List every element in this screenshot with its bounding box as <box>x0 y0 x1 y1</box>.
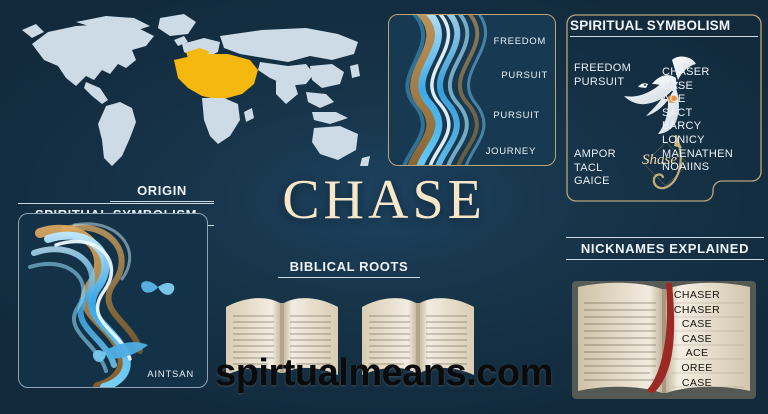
wave-card-top: FREEDOM PURSUIT PURSUIT JOURNEY <box>388 14 556 166</box>
symbolism-right-item: SACT <box>662 107 733 121</box>
symbolism-left-item: AMPOR <box>574 148 616 162</box>
nicknames-explained-label: NICKNAMES EXPLAINED <box>566 237 764 260</box>
infographic-canvas: .lnd { fill:#ccdbe6; } .hl { fill:#f5b80… <box>0 0 768 414</box>
symbolism-right-list: CHASER CASE ACE SACT BARCY LONICY MAENAT… <box>662 66 733 175</box>
nickname-item: CASE <box>660 317 734 332</box>
site-watermark: spirtualmeans.com <box>0 352 768 395</box>
symbolism-right-item: CHASER <box>662 66 733 80</box>
symbolism-left-item: FREEDOM <box>574 62 631 76</box>
wave-label-pursuit-1: PURSUIT <box>501 70 548 81</box>
nickname-item: CHASER <box>660 303 734 318</box>
symbolism-left-top-list: FREEDOM PURSUIT <box>574 62 631 89</box>
wave-label-pursuit-2: PURSUIT <box>493 110 540 121</box>
nickname-item: CASE <box>660 332 734 347</box>
symbolism-right-item: CASE <box>662 80 733 94</box>
spiritual-symbolism-title: SPIRITUAL SYMBOLISM <box>570 18 758 37</box>
biblical-roots-label: BIBLICAL ROOTS <box>278 258 420 278</box>
world-map-image: .lnd { fill:#ccdbe6; } .hl { fill:#f5b80… <box>14 8 372 178</box>
symbolism-right-item: BARCY <box>662 120 733 134</box>
symbolism-left-item: PURSUIT <box>574 76 631 90</box>
symbolism-right-item: MAENATHEN <box>662 148 733 162</box>
wave-label-freedom: FREEDOM <box>494 36 546 47</box>
wave-label-journey: JOURNEY <box>486 146 536 157</box>
symbolism-right-item: LONICY <box>662 134 733 148</box>
symbolism-right-item: ACE <box>662 93 733 107</box>
nickname-item: CHASER <box>660 288 734 303</box>
